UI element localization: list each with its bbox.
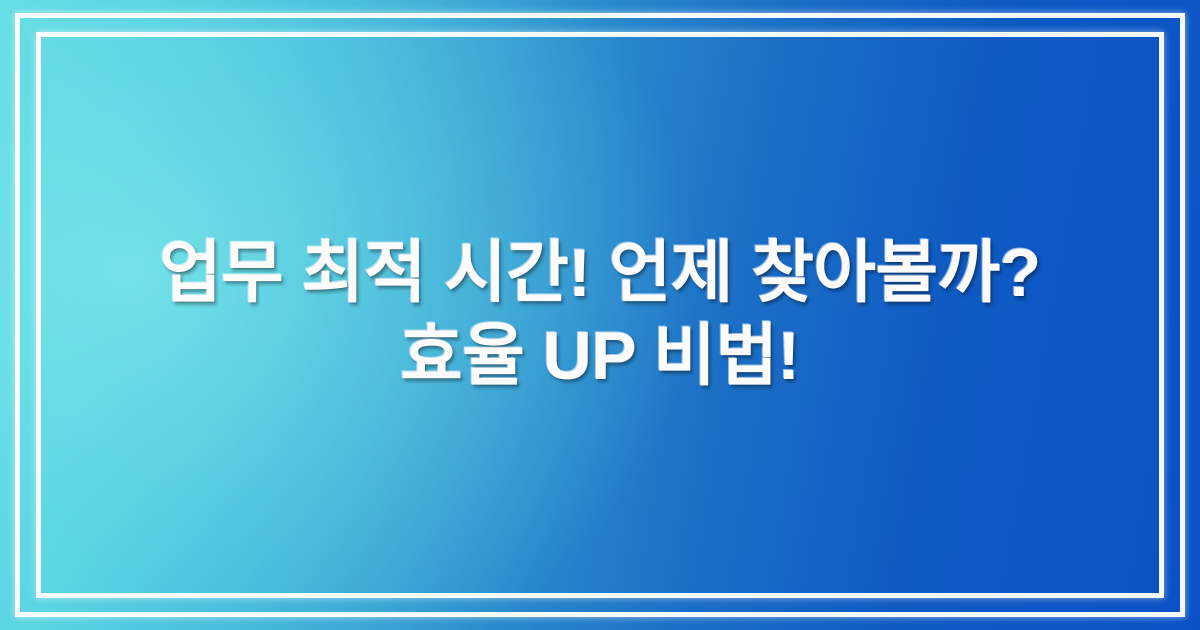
page-title: 업무 최적 시간! 언제 찾아볼까? 효율 UP 비법!: [120, 232, 1080, 398]
thumbnail-card: 업무 최적 시간! 언제 찾아볼까? 효율 UP 비법!: [0, 0, 1200, 630]
title-block: 업무 최적 시간! 언제 찾아볼까? 효율 UP 비법!: [0, 0, 1200, 630]
